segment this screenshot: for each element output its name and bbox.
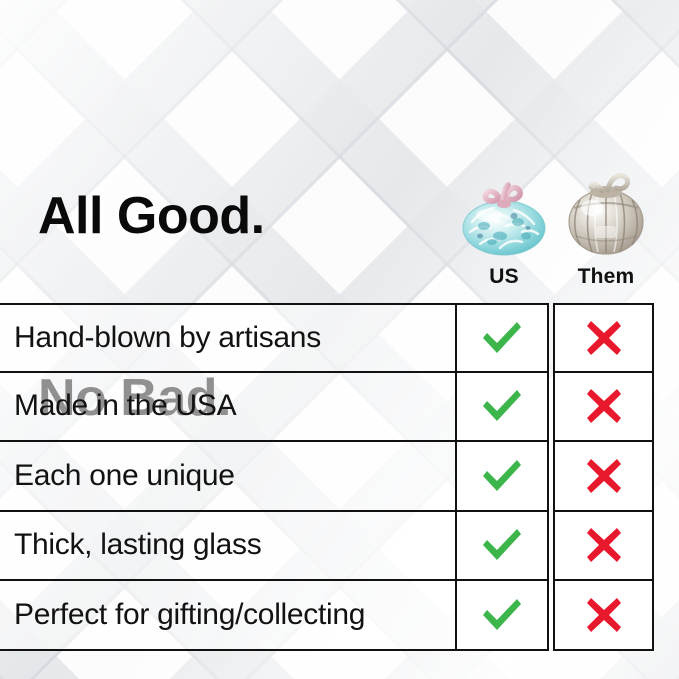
feature-label: Made in the USA — [0, 389, 236, 423]
table-row: Each one unique — [0, 442, 656, 512]
headline-line-1: All Good. — [38, 186, 265, 247]
feature-label-cell: Made in the USA — [0, 371, 457, 443]
product-column-them: Them — [554, 162, 658, 296]
table-row: Perfect for gifting/collecting — [0, 581, 656, 651]
column-label-us: US — [452, 266, 556, 287]
cross-icon — [584, 386, 624, 426]
cross-icon — [584, 595, 624, 635]
product-column-us: US — [452, 162, 556, 296]
feature-label: Perfect for gifting/collecting — [0, 598, 365, 632]
us-mark-cell — [455, 303, 549, 373]
check-icon — [479, 386, 525, 426]
feature-label-cell: Each one unique — [0, 440, 457, 512]
cross-icon — [584, 318, 624, 358]
us-mark-cell — [455, 510, 549, 582]
cross-icon — [584, 525, 624, 565]
product-column-headers: US — [452, 162, 666, 296]
check-icon — [479, 318, 525, 358]
them-mark-cell — [553, 579, 654, 651]
them-mark-cell — [553, 510, 654, 582]
comparison-table: Hand-blown by artisans Made in the USA — [0, 303, 656, 651]
feature-label-cell: Hand-blown by artisans — [0, 303, 457, 373]
feature-label: Thick, lasting glass — [0, 528, 261, 562]
us-mark-cell — [455, 440, 549, 512]
teal-glass-pumpkin-icon — [456, 170, 552, 258]
us-product-image — [452, 162, 556, 258]
check-icon — [479, 456, 525, 496]
table-row: Thick, lasting glass — [0, 512, 656, 582]
them-mark-cell — [553, 440, 654, 512]
cross-icon — [584, 456, 624, 496]
check-icon — [479, 595, 525, 635]
check-icon — [479, 525, 525, 565]
grey-glass-pumpkin-icon — [558, 164, 654, 258]
comparison-infographic: All Good. No Bad. — [0, 0, 679, 679]
column-label-them: Them — [554, 266, 658, 287]
them-product-image — [554, 162, 658, 258]
feature-label-cell: Thick, lasting glass — [0, 510, 457, 582]
them-mark-cell — [553, 371, 654, 443]
table-row: Hand-blown by artisans — [0, 303, 656, 373]
feature-label: Each one unique — [0, 459, 235, 493]
us-mark-cell — [455, 371, 549, 443]
table-row: Made in the USA — [0, 373, 656, 443]
feature-label-cell: Perfect for gifting/collecting — [0, 579, 457, 651]
them-mark-cell — [553, 303, 654, 373]
us-mark-cell — [455, 579, 549, 651]
feature-label: Hand-blown by artisans — [0, 321, 321, 355]
